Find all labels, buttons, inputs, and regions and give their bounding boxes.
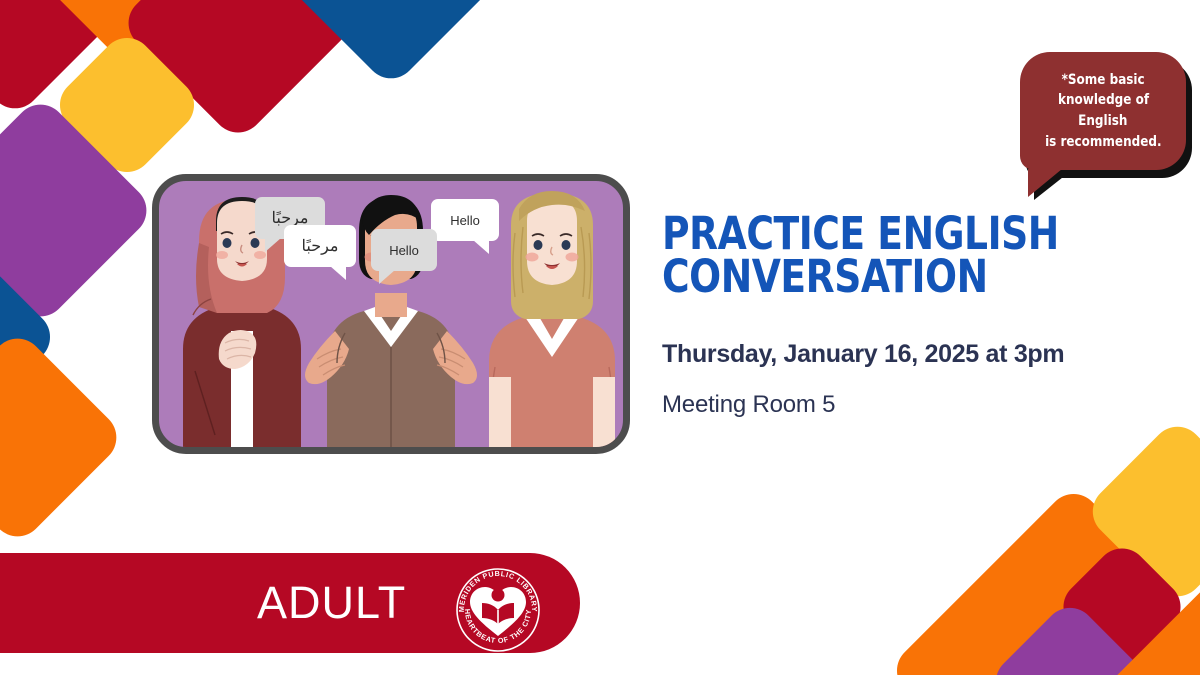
poster-canvas: مرحبًا مرحبًا Hello Hello PRACTICE ENGLI… <box>0 0 1200 675</box>
speech-bubble-text: Hello <box>389 243 419 258</box>
event-location: Meeting Room 5 <box>662 391 1172 419</box>
conversation-illustration: مرحبًا مرحبًا Hello Hello <box>152 174 630 454</box>
people-illustration-svg <box>159 181 623 447</box>
bubble-tail-icon <box>330 266 346 280</box>
prerequisite-callout: *Some basic knowledge of English is reco… <box>1020 52 1195 202</box>
bubble-tail-icon <box>473 240 489 254</box>
logo-person-head-icon <box>492 589 505 602</box>
callout-line-2: knowledge of <box>1057 90 1148 111</box>
callout-tail-icon <box>1028 169 1062 197</box>
event-date: Thursday, January 16, 2025 at 3pm <box>662 340 1172 369</box>
library-logo: MERIDEN PUBLIC LIBRARY HEARTBEAT OF THE … <box>454 566 542 654</box>
page-title-line-1: PRACTICE ENGLISH <box>662 212 1136 255</box>
speech-bubble-arabic-front: مرحبًا <box>284 225 356 267</box>
event-text-block: PRACTICE ENGLISH CONVERSATION Thursday, … <box>662 212 1172 419</box>
person-woman-with-blonde-hair <box>489 191 615 447</box>
library-logo-svg: MERIDEN PUBLIC LIBRARY HEARTBEAT OF THE … <box>454 566 542 654</box>
diamond-orange-left <box>0 328 127 547</box>
callout-line-1: *Some basic <box>1061 70 1144 91</box>
speech-bubble-hello-back: Hello <box>371 229 437 271</box>
speech-bubble-hello-front: Hello <box>431 199 499 241</box>
speech-bubble-text: مرحبًا <box>302 236 339 256</box>
callout-line-3: English <box>1078 111 1127 132</box>
bubble-tail-icon <box>379 270 395 284</box>
speech-bubble-text: Hello <box>450 213 480 228</box>
callout-line-4: is recommended. <box>1045 132 1161 153</box>
page-title-line-2: CONVERSATION <box>662 255 1136 298</box>
callout-body: *Some basic knowledge of English is reco… <box>1020 52 1186 170</box>
page-title: PRACTICE ENGLISH CONVERSATION <box>662 212 1136 298</box>
bubble-tail-icon <box>265 238 281 252</box>
audience-label: ADULT <box>257 577 406 629</box>
